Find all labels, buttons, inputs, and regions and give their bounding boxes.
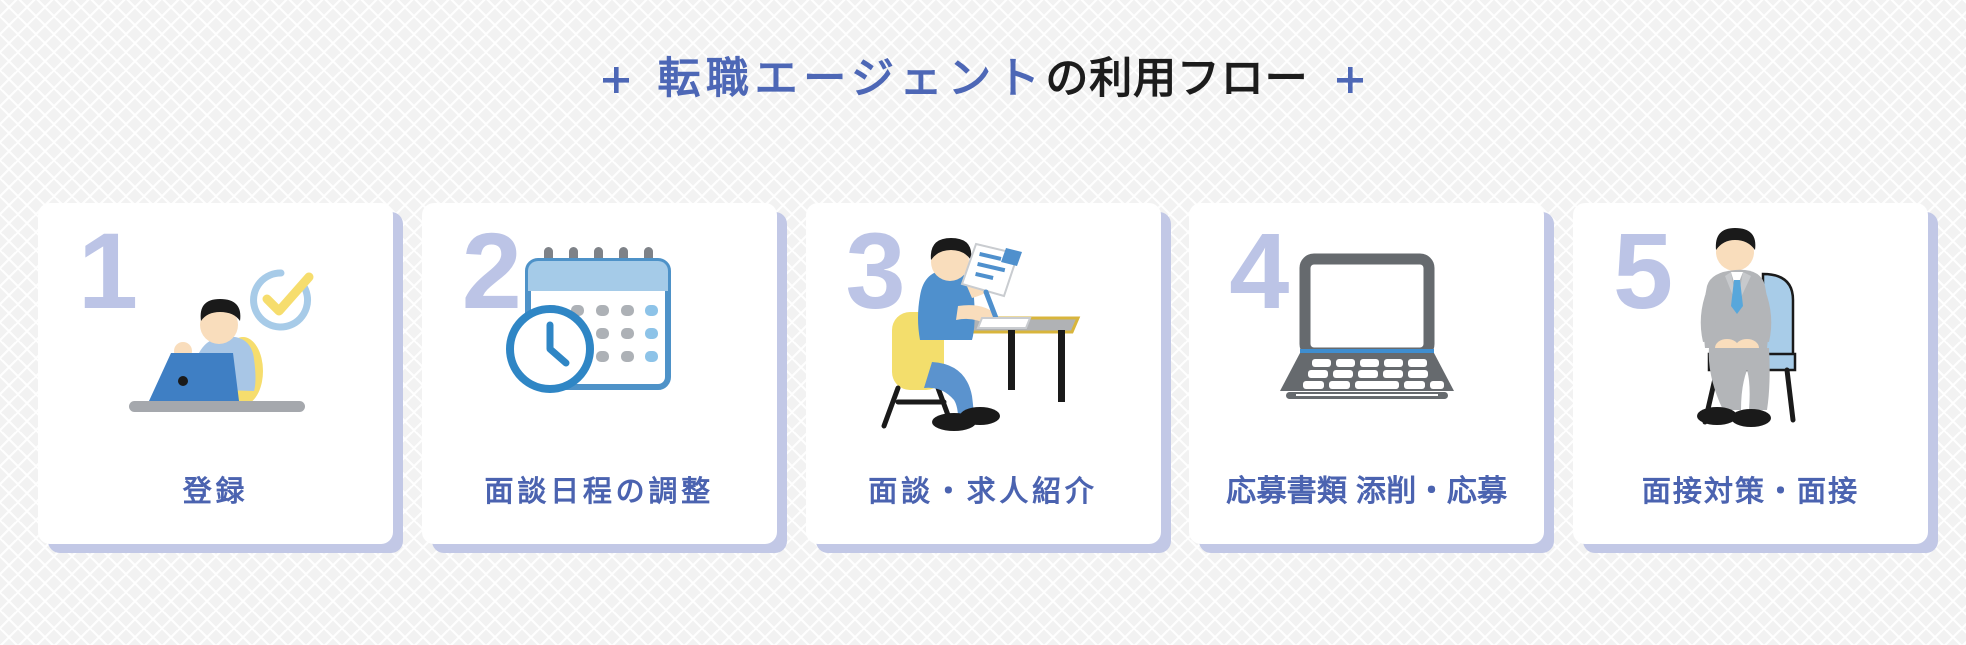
step-label: 面接対策・面接	[1573, 468, 1928, 510]
title-plain: の利用フロー	[1045, 55, 1308, 103]
laptop-icon	[1189, 221, 1544, 436]
step-label: 応募書類 添削・応募	[1189, 466, 1544, 510]
step-card-5[interactable]: 5	[1573, 203, 1928, 544]
seated-businessman-icon	[1573, 221, 1928, 436]
step-card-4[interactable]: 4	[1189, 203, 1544, 544]
step-label: 面談・求人紹介	[806, 468, 1161, 510]
plus-icon	[601, 65, 631, 95]
step-card-row: 1	[38, 203, 1928, 544]
person-at-desk-reading-document-icon	[806, 221, 1161, 436]
plus-icon	[1335, 65, 1365, 95]
title-accent: 転職エージェント	[657, 55, 1045, 103]
title-text: 転職エージェントの利用フロー	[657, 58, 1308, 101]
person-at-laptop-with-check-icon	[38, 221, 393, 436]
step-card-2[interactable]: 2	[422, 203, 777, 544]
calendar-with-clock-icon	[422, 221, 777, 436]
step-label: 登録	[38, 468, 393, 510]
step-label: 面談日程の調整	[422, 468, 777, 510]
page-title: 転職エージェントの利用フロー	[0, 58, 1966, 101]
step-card-1[interactable]: 1	[38, 203, 393, 544]
step-card-3[interactable]: 3	[806, 203, 1161, 544]
